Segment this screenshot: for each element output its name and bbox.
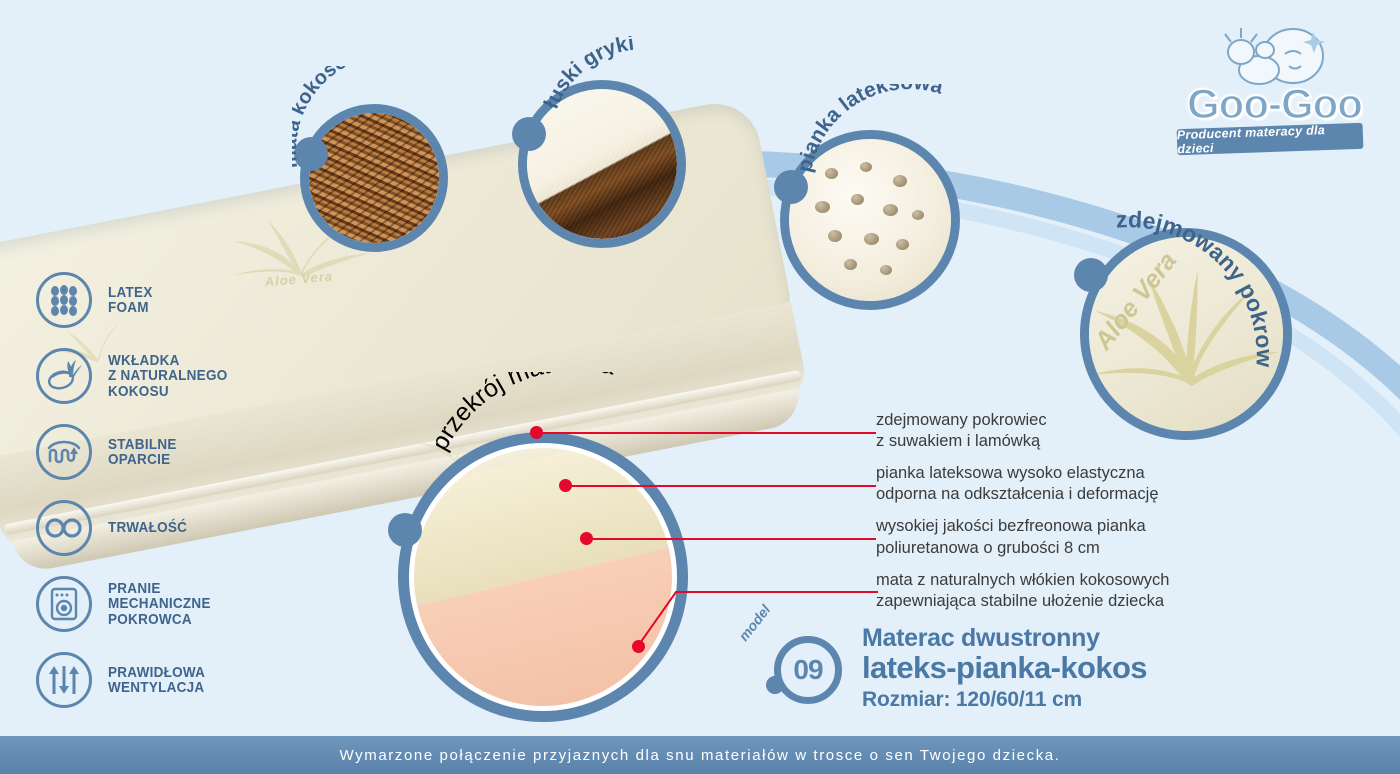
model-badge: model 09 — [752, 622, 848, 718]
material-bubble-latex-foam — [780, 130, 960, 310]
leader-line-latex — [569, 485, 876, 487]
feature-label: PRANIE MECHANICZNE POKROWCA — [108, 581, 211, 627]
material-bubble-buckwheat — [518, 80, 686, 248]
coconut-palm-icon — [36, 348, 92, 404]
bubble-knob-icon — [774, 170, 808, 204]
model-number: 09 — [793, 654, 822, 686]
leader-line-cover — [540, 432, 876, 434]
feature-list: LATEX FOAM WKŁADKA Z NATURALNEGO KOKOSU — [36, 262, 306, 718]
bubble-knob-icon — [294, 137, 328, 171]
ventilation-arrows-icon — [36, 652, 92, 708]
latex-foam-dots-icon — [36, 272, 92, 328]
annotation-line: pianka lateksowa wysoko elastyczna — [876, 463, 1276, 484]
feature-label: WKŁADKA Z NATURALNEGO KOKOSU — [108, 353, 228, 399]
annotation-line: wysokiej jakości bezfreonowa pianka — [876, 516, 1276, 537]
infographic-canvas: Aloe Vera — [0, 0, 1400, 774]
feature-label: LATEX FOAM — [108, 285, 153, 316]
brand-logo: Goo-Goo Producent materacy dla dzieci — [1163, 22, 1378, 162]
feature-item-ventilation: PRAWIDŁOWA WENTYLACJA — [36, 642, 306, 718]
footer-text: Wymarzone połączenie przyjaznych dla snu… — [340, 747, 1061, 764]
annotation-line: z suwakiem i lamówką — [876, 431, 1276, 452]
product-title-line1: Materac dwustronny — [862, 625, 1147, 652]
cross-section-bubble — [398, 432, 688, 722]
material-bubble-coconut-mat — [300, 104, 448, 252]
feature-item-stable-support: STABILNE OPARCIE — [36, 414, 306, 490]
product-size: Rozmiar: 120/60/11 cm — [862, 685, 1147, 715]
logo-wordmark: Goo-Goo — [1167, 80, 1382, 128]
feature-item-durability: TRWAŁOŚĆ — [36, 490, 306, 566]
bubble-knob-icon — [512, 117, 546, 151]
washing-machine-icon — [36, 576, 92, 632]
feature-label: TRWAŁOŚĆ — [108, 520, 187, 535]
footer-banner: Wymarzone połączenie przyjaznych dla snu… — [0, 736, 1400, 774]
bubble-knob-icon — [1074, 258, 1108, 292]
logo-tagline-banner: Producent materacy dla dzieci — [1177, 123, 1364, 155]
feature-item-latex-foam: LATEX FOAM — [36, 262, 306, 338]
annotation-line: zdejmowany pokrowiec — [876, 410, 1276, 431]
stable-support-wave-icon — [36, 424, 92, 480]
infinity-durability-icon — [36, 500, 92, 556]
aloe-vera-fabric-pattern: Aloe Vera — [1089, 237, 1283, 431]
product-title-line2: lateks-pianka-kokos — [862, 652, 1147, 685]
logo-tagline: Producent materacy dla dzieci — [1177, 122, 1364, 156]
annotation-list: zdejmowany pokrowiec z suwakiem i lamówk… — [876, 410, 1276, 623]
leader-line-foam — [590, 538, 876, 540]
feature-item-coconut-insert: WKŁADKA Z NATURALNEGO KOKOSU — [36, 338, 306, 414]
annotation-line: zapewniająca stabilne ułożenie dziecka — [876, 591, 1276, 612]
feature-label: PRAWIDŁOWA WENTYLACJA — [108, 665, 205, 696]
annotation-latex: pianka lateksowa wysoko elastyczna odpor… — [876, 463, 1276, 505]
annotation-line: mata z naturalnych włókien kokosowych — [876, 570, 1276, 591]
product-title-block: model 09 Materac dwustronny lateks-piank… — [752, 622, 1147, 718]
annotation-cover: zdejmowany pokrowiec z suwakiem i lamówk… — [876, 410, 1276, 452]
annotation-foam: wysokiej jakości bezfreonowa pianka poli… — [876, 516, 1276, 558]
annotation-line: poliuretanowa o grubości 8 cm — [876, 538, 1276, 559]
feature-label: STABILNE OPARCIE — [108, 437, 177, 468]
material-bubble-removable-cover: Aloe Vera — [1080, 228, 1292, 440]
annotation-coconut: mata z naturalnych włókien kokosowych za… — [876, 570, 1276, 612]
feature-item-machine-wash: PRANIE MECHANICZNE POKROWCA — [36, 566, 306, 642]
annotation-line: odporna na odkształcenia i deformację — [876, 484, 1276, 505]
bubble-knob-icon — [388, 513, 422, 547]
